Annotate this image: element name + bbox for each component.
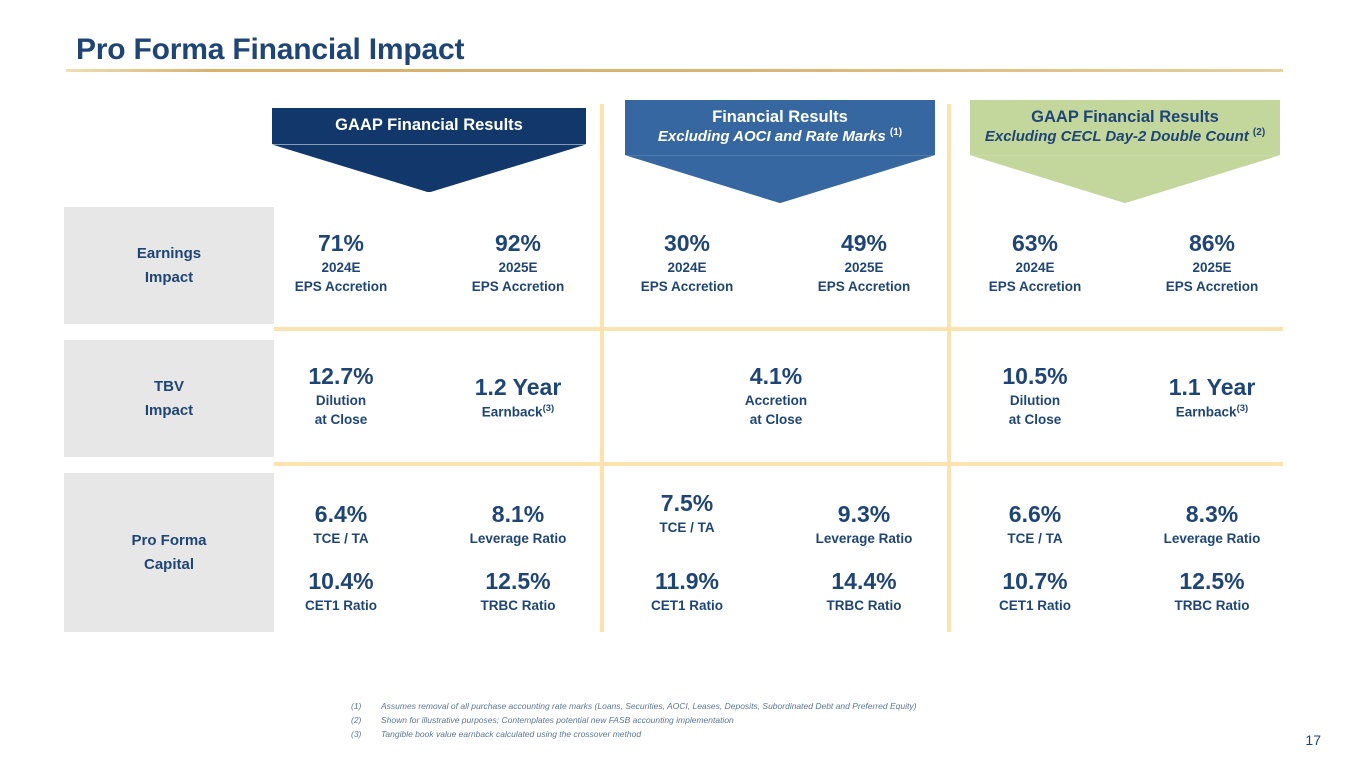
- footnote-text: Tangible book value earnback calculated …: [381, 728, 641, 742]
- metric-value: 10.5%: [969, 362, 1101, 391]
- metric-exaoci-2024e-eps-accretion: 30% 2024E EPS Accretion: [621, 229, 753, 297]
- title-underline-rule: [66, 69, 1283, 72]
- metric-value: 6.6%: [969, 500, 1101, 529]
- metric-gaap-tbv-dilution-at-close: 12.7% Dilution at Close: [275, 362, 407, 430]
- banner-line-2: Excluding AOCI and Rate Marks (1): [625, 127, 935, 146]
- row-label-text: TBVImpact: [145, 375, 193, 423]
- metric-caption-line-2: at Close: [969, 410, 1101, 430]
- metric-caption-line-1: 2024E: [969, 258, 1101, 278]
- banner-bar: GAAP Financial Results: [272, 108, 586, 144]
- banner-arrow-tip-icon: [625, 155, 935, 203]
- metric-gaap-2024e-eps-accretion: 71% 2024E EPS Accretion: [275, 229, 407, 297]
- metric-gaap-tbv-earnback: 1.2 Year Earnback(3): [452, 373, 584, 422]
- footnote-number: (2): [351, 714, 381, 728]
- metric-caption-line-1: TRBC Ratio: [798, 596, 930, 616]
- footnote-row: (2) Shown for illustrative purposes; Con…: [351, 714, 1301, 728]
- metric-gaap-cet1-ratio: 10.4% CET1 Ratio: [275, 567, 407, 615]
- metric-value: 1.2 Year: [452, 373, 584, 402]
- metric-caption-line-1: Leverage Ratio: [798, 529, 930, 549]
- metric-caption-line-2: EPS Accretion: [452, 277, 584, 297]
- footnote-row: (1) Assumes removal of all purchase acco…: [351, 700, 1301, 714]
- metric-value: 63%: [969, 229, 1101, 258]
- footnote-text: Shown for illustrative purposes; Contemp…: [381, 714, 734, 728]
- metric-caption-line-1: TCE / TA: [621, 518, 753, 538]
- metric-exaoci-cet1-ratio: 11.9% CET1 Ratio: [621, 567, 753, 615]
- metric-excecl-2025e-eps-accretion: 86% 2025E EPS Accretion: [1146, 229, 1278, 297]
- footnote-number: (1): [351, 700, 381, 714]
- metric-caption-line-1: TRBC Ratio: [452, 596, 584, 616]
- metric-caption-line-1: Leverage Ratio: [1146, 529, 1278, 549]
- metric-caption-line-1: TRBC Ratio: [1146, 596, 1278, 616]
- metric-excecl-tce-ta: 6.6% TCE / TA: [969, 500, 1101, 548]
- metric-excecl-tbv-earnback: 1.1 Year Earnback(3): [1146, 373, 1278, 422]
- metric-exaoci-tce-ta: 7.5% TCE / TA: [621, 489, 753, 537]
- page-title: Pro Forma Financial Impact: [76, 33, 464, 67]
- metric-value: 10.4%: [275, 567, 407, 596]
- metric-excecl-trbc-ratio: 12.5% TRBC Ratio: [1146, 567, 1278, 615]
- metric-value: 86%: [1146, 229, 1278, 258]
- row-label-earnings-impact: EarningsImpact: [64, 207, 274, 324]
- metric-caption-line-1: 2024E: [275, 258, 407, 278]
- metric-caption-line-2: EPS Accretion: [275, 277, 407, 297]
- footnote-number: (3): [351, 728, 381, 742]
- metric-exaoci-2025e-eps-accretion: 49% 2025E EPS Accretion: [798, 229, 930, 297]
- banner-line-1: GAAP Financial Results: [272, 116, 586, 135]
- metric-value: 12.5%: [452, 567, 584, 596]
- banner-arrow-tip-icon: [970, 155, 1280, 203]
- metric-caption-line-1: CET1 Ratio: [275, 596, 407, 616]
- metric-caption-line-1: Dilution: [969, 391, 1101, 411]
- metric-caption-line-1: 2025E: [1146, 258, 1278, 278]
- metric-value: 7.5%: [621, 489, 753, 518]
- metric-caption-line-1: 2024E: [621, 258, 753, 278]
- banner-bar: Financial Results Excluding AOCI and Rat…: [625, 100, 935, 155]
- metric-excecl-2024e-eps-accretion: 63% 2024E EPS Accretion: [969, 229, 1101, 297]
- column-divider-right: [947, 104, 951, 632]
- metric-gaap-leverage-ratio: 8.1% Leverage Ratio: [452, 500, 584, 548]
- column-header-excluding-cecl-day2-double-count: GAAP Financial Results Excluding CECL Da…: [970, 100, 1280, 203]
- row-divider-tbv-capital: [274, 462, 1283, 466]
- metric-gaap-tce-ta: 6.4% TCE / TA: [275, 500, 407, 548]
- metric-excecl-tbv-dilution-at-close: 10.5% Dilution at Close: [969, 362, 1101, 430]
- row-divider-earnings-tbv: [274, 327, 1283, 331]
- metric-caption-line-1: Earnback(3): [452, 402, 584, 422]
- metric-value: 4.1%: [710, 362, 842, 391]
- metric-caption-line-1: Dilution: [275, 391, 407, 411]
- column-header-gaap-financial-results: GAAP Financial Results: [272, 108, 586, 192]
- banner-line-1: GAAP Financial Results: [970, 108, 1280, 127]
- metric-caption-line-1: 2025E: [798, 258, 930, 278]
- metric-exaoci-leverage-ratio: 9.3% Leverage Ratio: [798, 500, 930, 548]
- footnote-row: (3) Tangible book value earnback calcula…: [351, 728, 1301, 742]
- footnote-text: Assumes removal of all purchase accounti…: [381, 700, 916, 714]
- metric-value: 1.1 Year: [1146, 373, 1278, 402]
- metric-caption-line-1: Earnback(3): [1146, 402, 1278, 422]
- metric-value: 10.7%: [969, 567, 1101, 596]
- metric-value: 8.1%: [452, 500, 584, 529]
- metric-value: 8.3%: [1146, 500, 1278, 529]
- column-divider-left: [600, 104, 604, 632]
- metric-caption-line-1: TCE / TA: [275, 529, 407, 549]
- metric-caption-line-1: CET1 Ratio: [969, 596, 1101, 616]
- banner-line-2: Excluding CECL Day-2 Double Count (2): [970, 127, 1280, 146]
- metric-excecl-leverage-ratio: 8.3% Leverage Ratio: [1146, 500, 1278, 548]
- footnote-marker: (1): [890, 127, 902, 138]
- banner-line-1: Financial Results: [625, 108, 935, 127]
- metric-value: 30%: [621, 229, 753, 258]
- column-header-excluding-aoci-rate-marks: Financial Results Excluding AOCI and Rat…: [625, 100, 935, 203]
- footnotes: (1) Assumes removal of all purchase acco…: [351, 700, 1301, 741]
- banner-bar: GAAP Financial Results Excluding CECL Da…: [970, 100, 1280, 155]
- row-label-text: Pro FormaCapital: [131, 529, 206, 577]
- row-label-pro-forma-capital: Pro FormaCapital: [64, 473, 274, 632]
- metric-caption-line-2: EPS Accretion: [621, 277, 753, 297]
- metric-caption-line-2: at Close: [710, 410, 842, 430]
- metric-gaap-2025e-eps-accretion: 92% 2025E EPS Accretion: [452, 229, 584, 297]
- page-number: 17: [1305, 732, 1321, 748]
- metric-value: 92%: [452, 229, 584, 258]
- footnote-marker: (3): [543, 403, 555, 414]
- metric-caption-line-2: EPS Accretion: [798, 277, 930, 297]
- metric-exaoci-trbc-ratio: 14.4% TRBC Ratio: [798, 567, 930, 615]
- footnote-marker: (2): [1253, 127, 1265, 138]
- footnote-marker: (3): [1237, 403, 1249, 414]
- metric-gaap-trbc-ratio: 12.5% TRBC Ratio: [452, 567, 584, 615]
- banner-arrow-tip-icon: [272, 144, 586, 192]
- metric-value: 71%: [275, 229, 407, 258]
- row-label-text: EarningsImpact: [137, 242, 201, 290]
- metric-exaoci-tbv-accretion-at-close: 4.1% Accretion at Close: [710, 362, 842, 430]
- row-label-tbv-impact: TBVImpact: [64, 340, 274, 457]
- metric-value: 6.4%: [275, 500, 407, 529]
- metric-value: 12.7%: [275, 362, 407, 391]
- metric-caption-line-1: TCE / TA: [969, 529, 1101, 549]
- metric-caption-line-1: CET1 Ratio: [621, 596, 753, 616]
- metric-value: 12.5%: [1146, 567, 1278, 596]
- metric-value: 14.4%: [798, 567, 930, 596]
- metric-caption-line-2: EPS Accretion: [1146, 277, 1278, 297]
- metric-value: 11.9%: [621, 567, 753, 596]
- metric-caption-line-2: at Close: [275, 410, 407, 430]
- metric-value: 9.3%: [798, 500, 930, 529]
- metric-caption-line-1: Leverage Ratio: [452, 529, 584, 549]
- metric-excecl-cet1-ratio: 10.7% CET1 Ratio: [969, 567, 1101, 615]
- metric-value: 49%: [798, 229, 930, 258]
- metric-caption-line-1: 2025E: [452, 258, 584, 278]
- metric-caption-line-2: EPS Accretion: [969, 277, 1101, 297]
- metric-caption-line-1: Accretion: [710, 391, 842, 411]
